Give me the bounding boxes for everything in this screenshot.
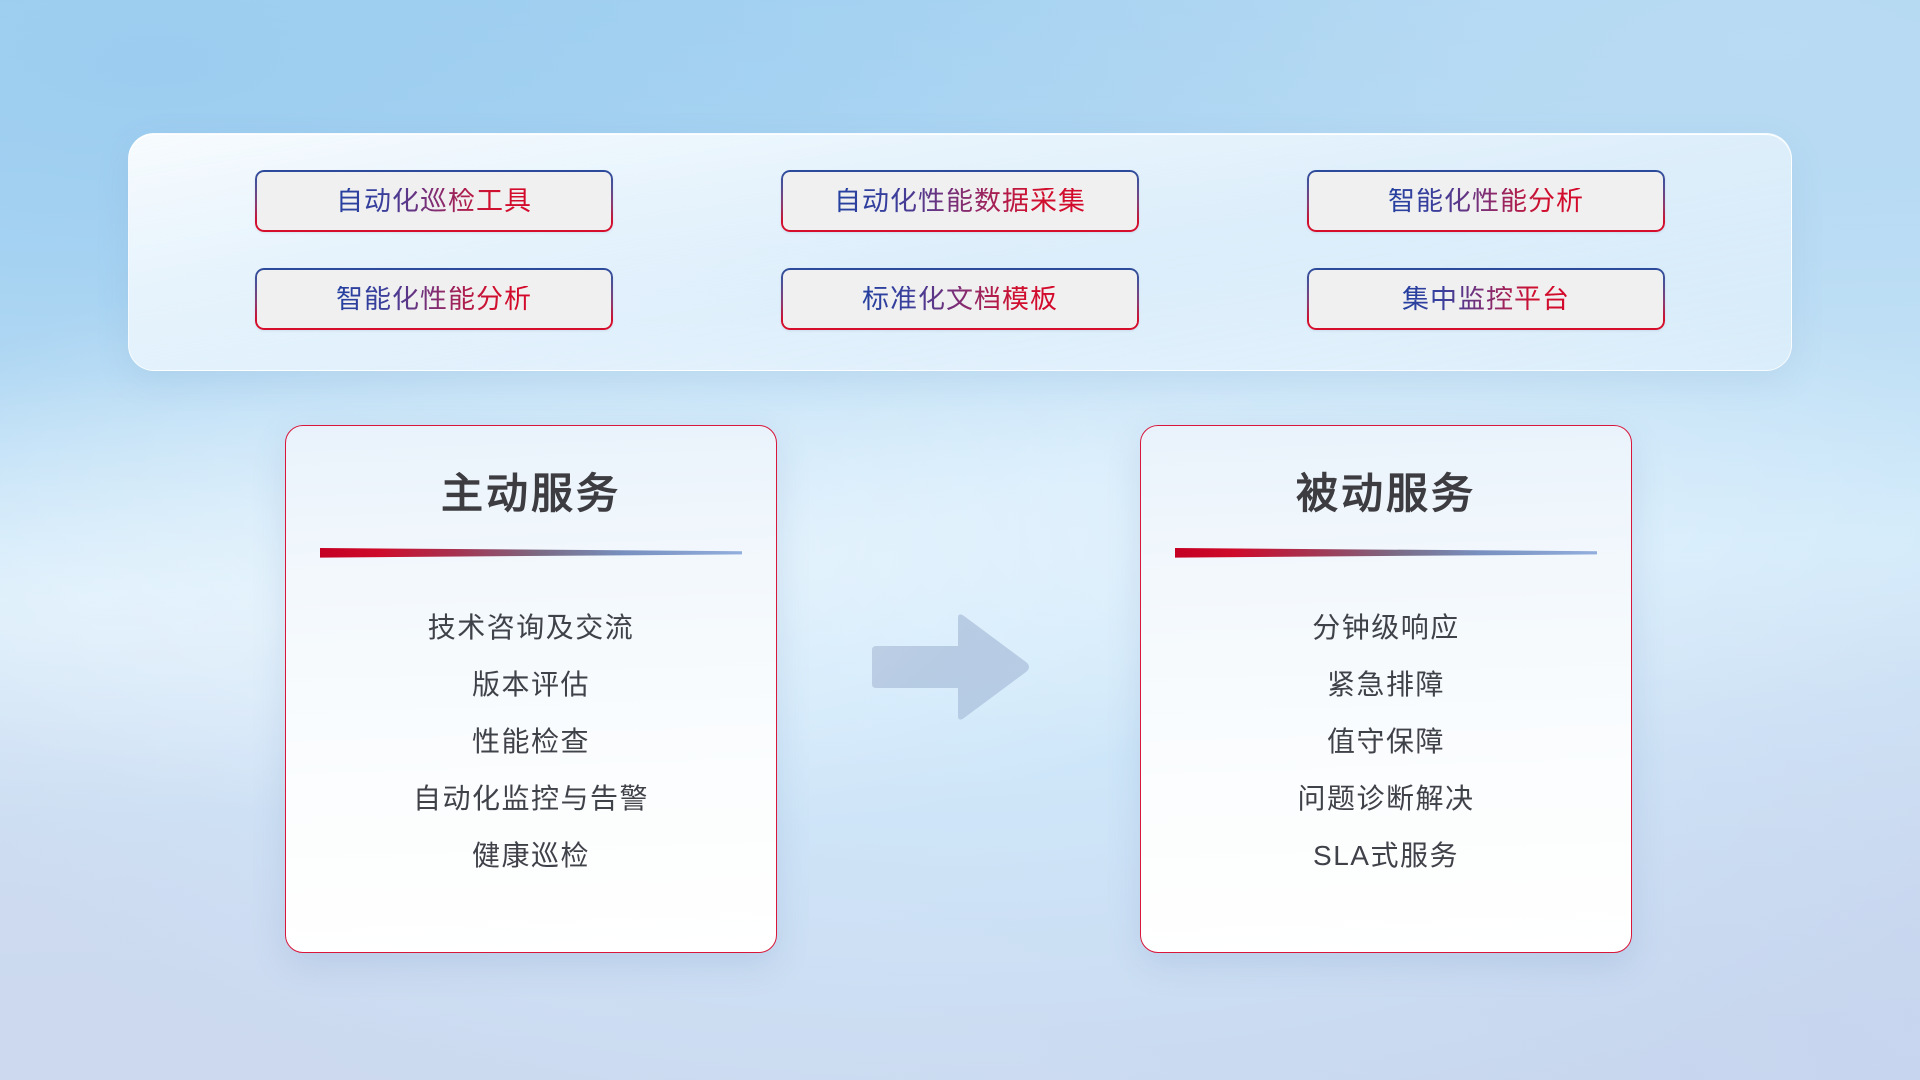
right-arrow-icon [872, 612, 1032, 722]
capability-chip-label: 智能化性能分析 [1388, 188, 1584, 215]
capability-chip[interactable]: 智能化性能分析 [255, 268, 613, 330]
capability-chip-label: 集中监控平台 [1402, 286, 1570, 313]
service-card-active: 主动服务 技术咨询及交流 版本评估 性能检查 自动化监控与告警 健康巡检 [285, 425, 777, 953]
capability-chip-label: 自动化巡检工具 [336, 188, 532, 215]
capability-chip[interactable]: 集中监控平台 [1307, 268, 1665, 330]
card-title: 主动服务 [286, 460, 776, 521]
capability-chip[interactable]: 智能化性能分析 [1307, 170, 1665, 232]
card-divider [320, 546, 742, 560]
card-list-item: 自动化监控与告警 [413, 771, 649, 828]
card-list-item: 问题诊断解决 [1297, 771, 1474, 828]
capability-chip-label: 智能化性能分析 [336, 286, 532, 313]
capabilities-panel: 自动化巡检工具 自动化性能数据采集 智能化性能分析 智能化性能分析 标准化文档模… [128, 133, 1792, 371]
capability-chip[interactable]: 自动化性能数据采集 [781, 170, 1139, 232]
card-item-list: 技术咨询及交流 版本评估 性能检查 自动化监控与告警 健康巡检 [286, 600, 776, 885]
capability-chip-grid: 自动化巡检工具 自动化性能数据采集 智能化性能分析 智能化性能分析 标准化文档模… [129, 134, 1791, 370]
service-card-passive: 被动服务 分钟级响应 紧急排障 值守保障 问题诊断解决 SLA式服务 [1140, 425, 1632, 953]
card-list-item: 健康巡检 [472, 828, 590, 885]
card-item-list: 分钟级响应 紧急排障 值守保障 问题诊断解决 SLA式服务 [1141, 600, 1631, 885]
card-list-item: SLA式服务 [1313, 828, 1459, 885]
capability-chip-label: 标准化文档模板 [862, 286, 1058, 313]
card-list-item: 值守保障 [1327, 714, 1445, 771]
card-title: 被动服务 [1141, 460, 1631, 521]
capability-chip[interactable]: 自动化巡检工具 [255, 170, 613, 232]
card-list-item: 版本评估 [472, 657, 590, 714]
card-list-item: 性能检查 [472, 714, 590, 771]
card-list-item: 紧急排障 [1327, 657, 1445, 714]
card-list-item: 技术咨询及交流 [428, 600, 635, 657]
capability-chip-label: 自动化性能数据采集 [834, 188, 1086, 215]
card-divider [1175, 546, 1597, 560]
capability-chip[interactable]: 标准化文档模板 [781, 268, 1139, 330]
card-list-item: 分钟级响应 [1312, 600, 1460, 657]
